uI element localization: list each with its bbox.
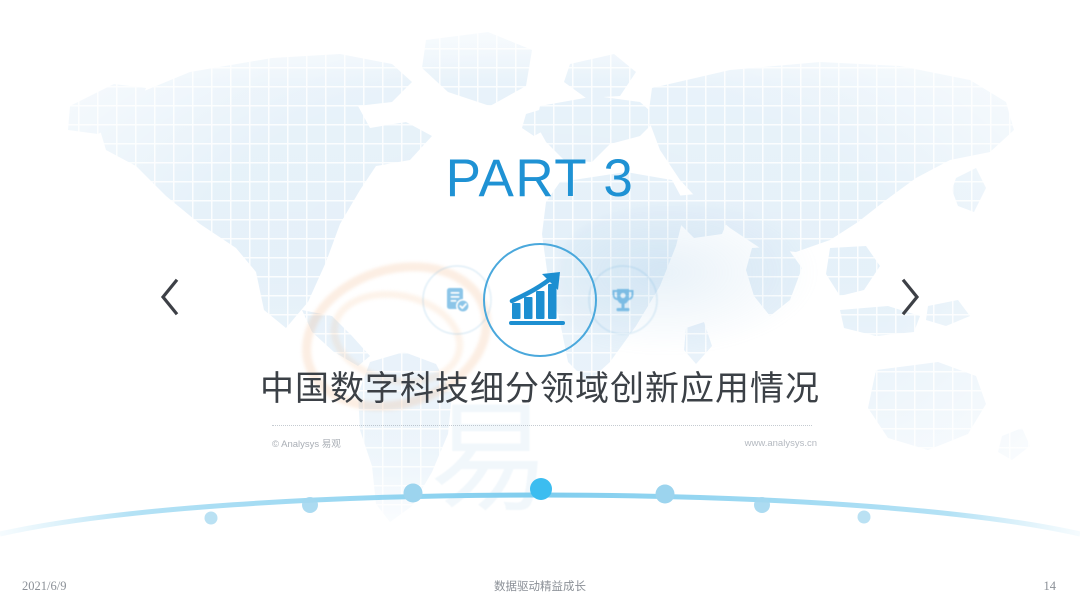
part-title: PART 3 <box>0 148 1080 209</box>
section-heading: 中国数字科技细分领域创新应用情况 <box>0 368 1080 411</box>
chevron-right-glyph <box>897 277 923 317</box>
trophy-glyph <box>607 284 639 316</box>
bar-chart-growth-glyph <box>508 271 572 329</box>
document-check-glyph <box>440 283 474 317</box>
list-item[interactable] <box>205 512 218 525</box>
trophy-icon <box>588 265 658 335</box>
progress-arc <box>0 460 1080 550</box>
chevron-right-icon[interactable] <box>888 268 932 326</box>
list-item[interactable] <box>404 484 423 503</box>
footer-tagline: 数据驱动精益成长 <box>0 578 1080 594</box>
document-check-icon <box>422 265 492 335</box>
chevron-left-glyph <box>157 277 183 317</box>
list-item[interactable] <box>858 511 871 524</box>
list-item[interactable] <box>656 485 675 504</box>
list-item-active[interactable] <box>530 478 552 500</box>
copyright-text: © Analysys 易观 <box>272 436 341 450</box>
bar-chart-growth-icon <box>483 243 597 357</box>
heading-divider <box>272 425 812 427</box>
list-item[interactable] <box>302 497 318 513</box>
slide-root: 易 PART 3 <box>0 0 1080 608</box>
credit-row: © Analysys 易观 www.analysys.cn <box>272 436 817 450</box>
list-item[interactable] <box>754 497 770 513</box>
icon-cluster <box>420 243 660 355</box>
chevron-left-icon[interactable] <box>148 268 192 326</box>
slide-footer: 2021/6/9 数据驱动精益成长 14 <box>0 564 1080 608</box>
website-url[interactable]: www.analysys.cn <box>745 438 817 449</box>
progress-arc-svg <box>0 460 1080 550</box>
page-number: 14 <box>1044 579 1057 594</box>
arc-line <box>0 495 1080 534</box>
